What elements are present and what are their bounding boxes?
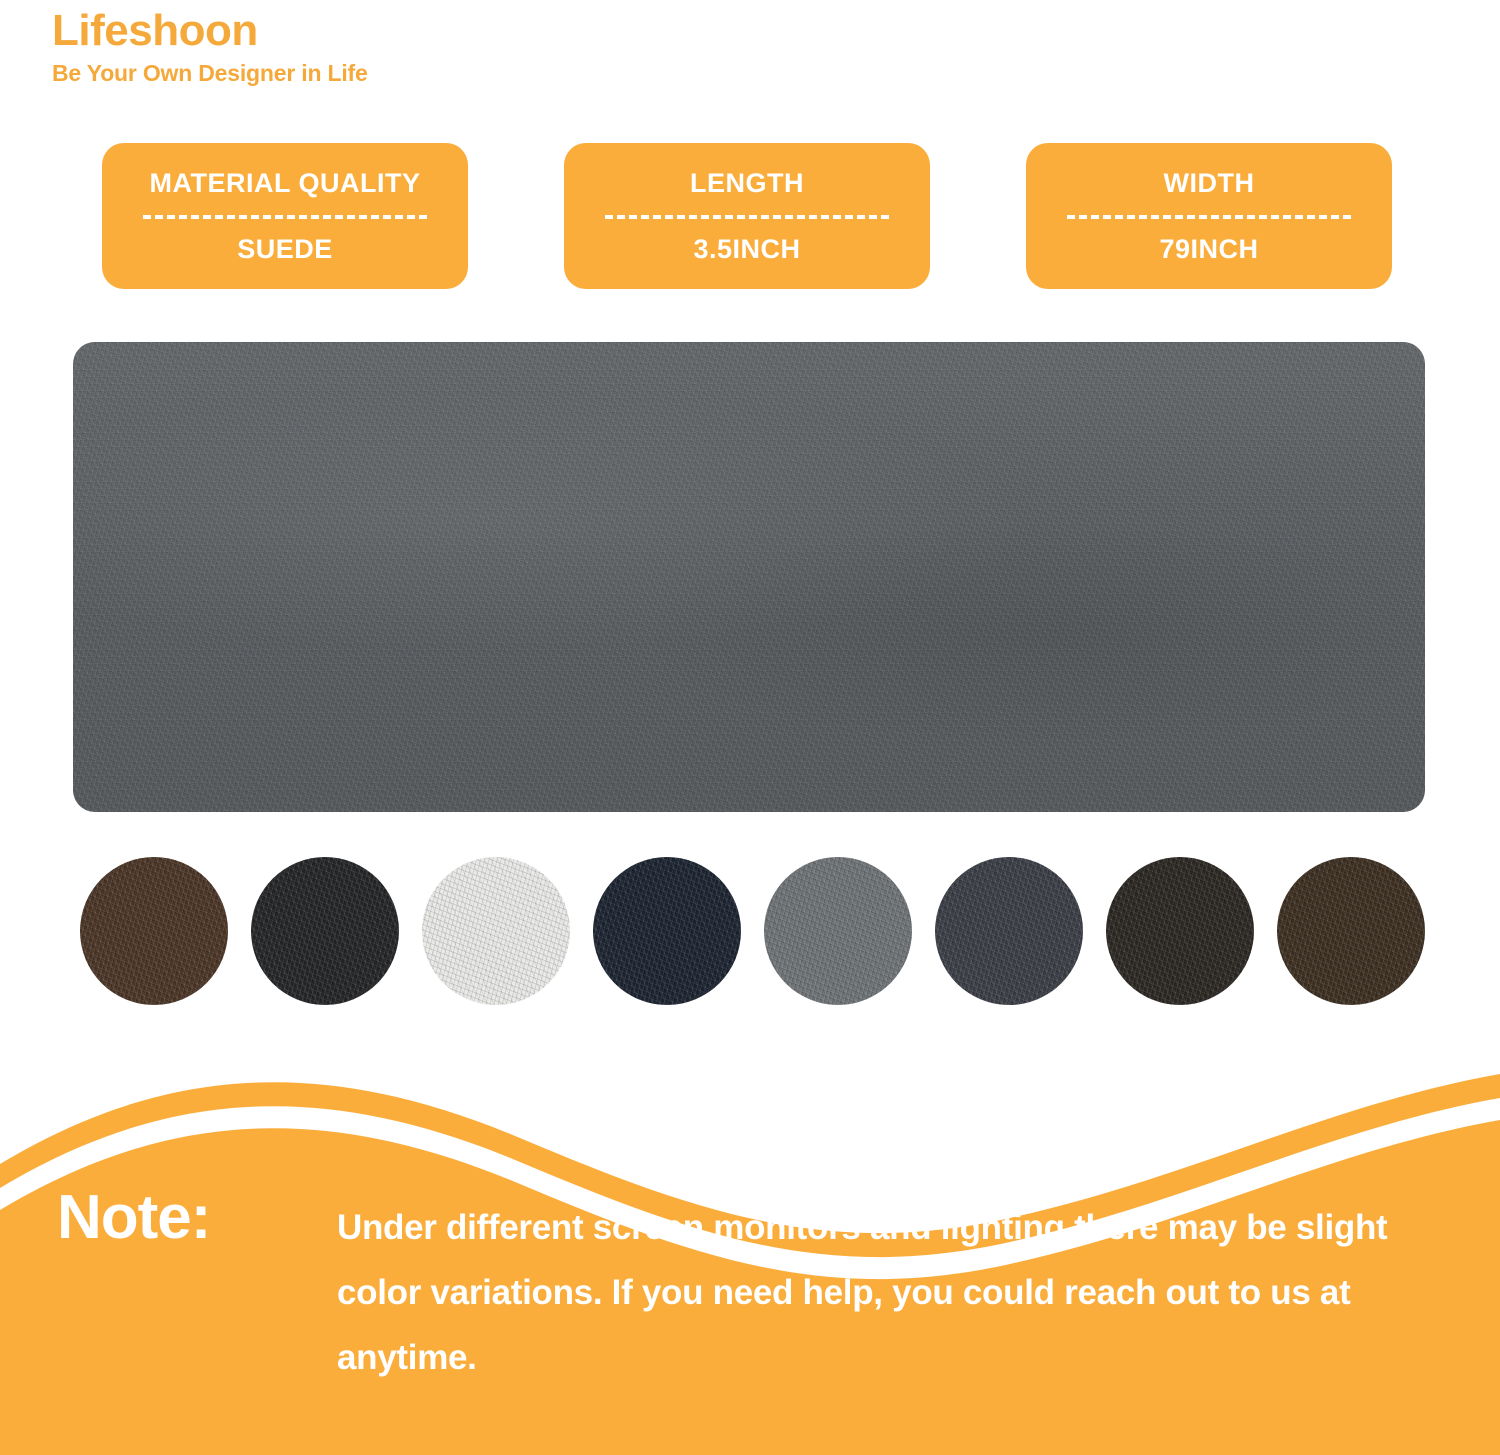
spec-badge-material-quality: MATERIAL QUALITY SUEDE bbox=[102, 143, 468, 289]
dashed-divider bbox=[143, 215, 427, 219]
color-swatch-off-white[interactable] bbox=[422, 857, 570, 1005]
brand-header: Lifeshoon Be Your Own Designer in Life bbox=[52, 8, 752, 87]
note-content: Note: Under different screen monitors an… bbox=[0, 1068, 1500, 1455]
spec-badge-length: LENGTH 3.5INCH bbox=[564, 143, 930, 289]
spec-badge-label: LENGTH bbox=[690, 168, 804, 199]
note-panel: Note: Under different screen monitors an… bbox=[0, 1068, 1500, 1455]
color-swatch-row bbox=[80, 857, 1425, 1005]
brand-name: Lifeshoon bbox=[52, 8, 752, 54]
color-swatch-espresso-black[interactable] bbox=[1106, 857, 1254, 1005]
color-swatch-navy[interactable] bbox=[593, 857, 741, 1005]
spec-badge-group: MATERIAL QUALITY SUEDE LENGTH 3.5INCH WI… bbox=[102, 143, 1402, 289]
spec-badge-value: SUEDE bbox=[237, 234, 333, 265]
dashed-divider bbox=[605, 215, 889, 219]
brand-tagline: Be Your Own Designer in Life bbox=[52, 60, 752, 87]
color-swatch-gray[interactable] bbox=[764, 857, 912, 1005]
note-heading: Note: bbox=[57, 1187, 210, 1249]
note-body-text: Under different screen monitors and ligh… bbox=[337, 1196, 1457, 1390]
color-swatch-dark-brown[interactable] bbox=[80, 857, 228, 1005]
dashed-divider bbox=[1067, 215, 1351, 219]
spec-badge-width: WIDTH 79INCH bbox=[1026, 143, 1392, 289]
spec-badge-label: MATERIAL QUALITY bbox=[150, 168, 421, 199]
product-mat-image bbox=[73, 342, 1425, 812]
color-swatch-dark-slate-gray[interactable] bbox=[935, 857, 1083, 1005]
spec-badge-value: 3.5INCH bbox=[693, 234, 800, 265]
color-swatch-coffee-brown[interactable] bbox=[1277, 857, 1425, 1005]
spec-badge-label: WIDTH bbox=[1164, 168, 1255, 199]
spec-badge-value: 79INCH bbox=[1159, 234, 1258, 265]
color-swatch-black[interactable] bbox=[251, 857, 399, 1005]
